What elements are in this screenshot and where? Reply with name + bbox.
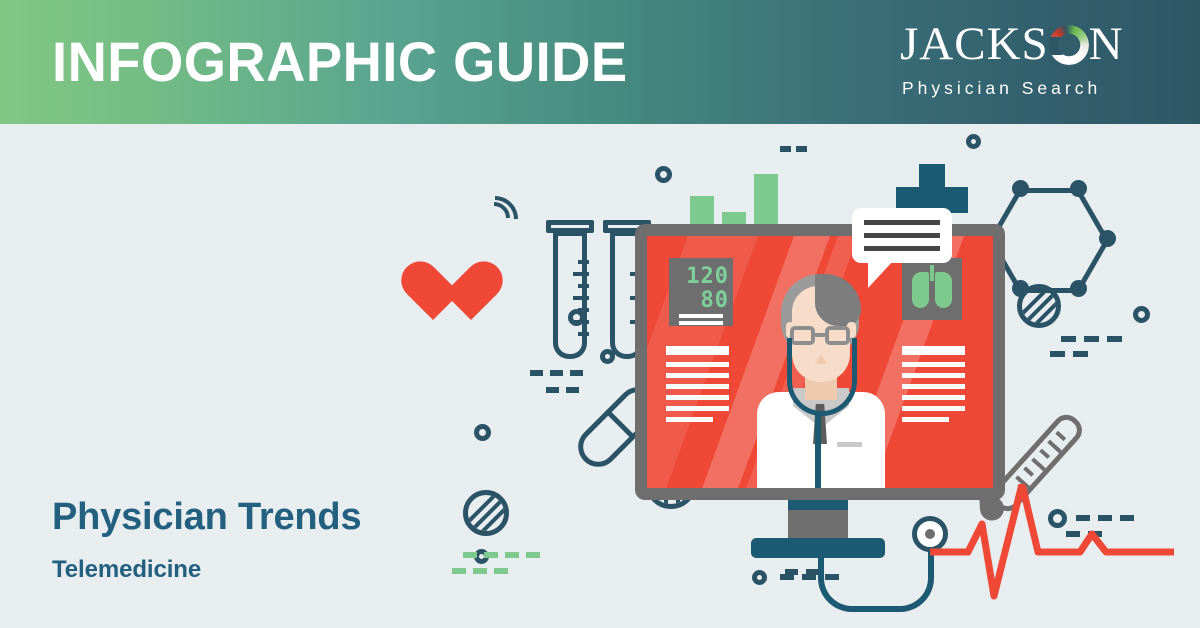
dash-mark	[796, 146, 807, 152]
screen-text-line	[666, 417, 713, 422]
chat-bubble-line	[864, 233, 940, 238]
dash-mark-green	[494, 568, 508, 574]
dash-mark-green	[505, 552, 519, 558]
screen-text-line	[666, 373, 729, 378]
lung-right	[935, 272, 952, 308]
screen-text-line	[902, 362, 965, 367]
screen-text-line	[666, 384, 729, 389]
dash-mark-green	[484, 552, 498, 558]
lung-left	[912, 272, 929, 308]
dash-mark	[530, 370, 543, 376]
logo-tagline: Physician Search	[902, 78, 1170, 99]
dash-mark	[780, 574, 794, 580]
telemedicine-illustration: 120 80	[400, 124, 1200, 628]
blood-pressure-readout: 120 80	[669, 258, 733, 326]
diastolic-value: 80	[701, 288, 730, 313]
small-ring-icon	[655, 166, 672, 183]
logo-wordmark-tail: N	[1089, 18, 1124, 70]
chat-bubble	[852, 208, 952, 263]
dash-mark	[1073, 351, 1088, 357]
infographic-cover: INFOGRAPHIC GUIDE JACKSN Physician Searc…	[0, 0, 1200, 628]
dash-mark	[1050, 351, 1065, 357]
video-consultation-monitor[interactable]: 120 80	[635, 224, 1005, 500]
hatched-circle-icon	[463, 490, 509, 536]
page-title: INFOGRAPHIC GUIDE	[52, 20, 628, 104]
dash-mark	[780, 146, 791, 152]
doctor-coat-pocket	[837, 442, 862, 447]
screen-text-line	[666, 395, 729, 400]
dash-mark-green	[473, 568, 487, 574]
dash-mark	[825, 574, 839, 580]
small-ring-icon	[474, 424, 491, 441]
dash-mark	[1061, 336, 1076, 342]
screen-text-line	[902, 395, 965, 400]
screen-text-line	[666, 346, 729, 355]
monitor-neck-collar	[788, 500, 848, 510]
logo-wordmark-text: JACKS	[900, 18, 1049, 70]
dash-mark	[1084, 336, 1099, 342]
screen-text-line	[902, 417, 949, 422]
screen-text-line	[666, 362, 729, 367]
small-ring-icon	[1133, 306, 1150, 323]
chat-bubble-line	[864, 246, 940, 251]
systolic-value: 120	[686, 264, 729, 289]
dash-mark	[550, 370, 563, 376]
series-title: Physician Trends	[52, 496, 361, 539]
screen-text-line	[902, 346, 965, 355]
dash-mark-green	[463, 552, 477, 558]
stethoscope-tube	[815, 412, 821, 488]
dash-mark	[1107, 336, 1122, 342]
dash-mark	[566, 387, 579, 393]
monitor-screen: 120 80	[647, 236, 993, 488]
dash-mark	[570, 370, 583, 376]
small-ring-icon	[752, 570, 767, 585]
header-banner: INFOGRAPHIC GUIDE JACKSN Physician Searc…	[0, 0, 1200, 124]
dash-mark	[546, 387, 559, 393]
stethoscope-icon	[787, 338, 857, 416]
brand-logo[interactable]: JACKSN Physician Search	[900, 16, 1170, 108]
screen-text-line	[902, 373, 965, 378]
hatched-circle-icon	[1017, 284, 1061, 328]
dash-mark-green	[452, 568, 466, 574]
screen-text-line	[902, 406, 965, 411]
chat-bubble-tail	[868, 260, 894, 288]
signal-wave-icon	[462, 186, 527, 251]
dash-mark	[802, 574, 816, 580]
logo-ring-o-icon	[1049, 25, 1089, 65]
logo-wordmark: JACKSN	[900, 16, 1170, 72]
test-tube-icon	[546, 220, 594, 366]
eyeglasses-bridge	[815, 333, 827, 337]
small-ring-icon	[966, 134, 981, 149]
lungs-xray-thumbnail	[902, 258, 962, 320]
screen-text-line	[902, 384, 965, 389]
heart-icon	[433, 264, 499, 326]
dash-mark-green	[526, 552, 540, 558]
series-subtitle: Telemedicine	[52, 556, 201, 584]
doctor-hair-fringe	[815, 274, 861, 326]
screen-text-line	[666, 406, 729, 411]
ecg-heartbeat-icon	[930, 484, 1190, 624]
chat-bubble-line	[864, 220, 940, 225]
